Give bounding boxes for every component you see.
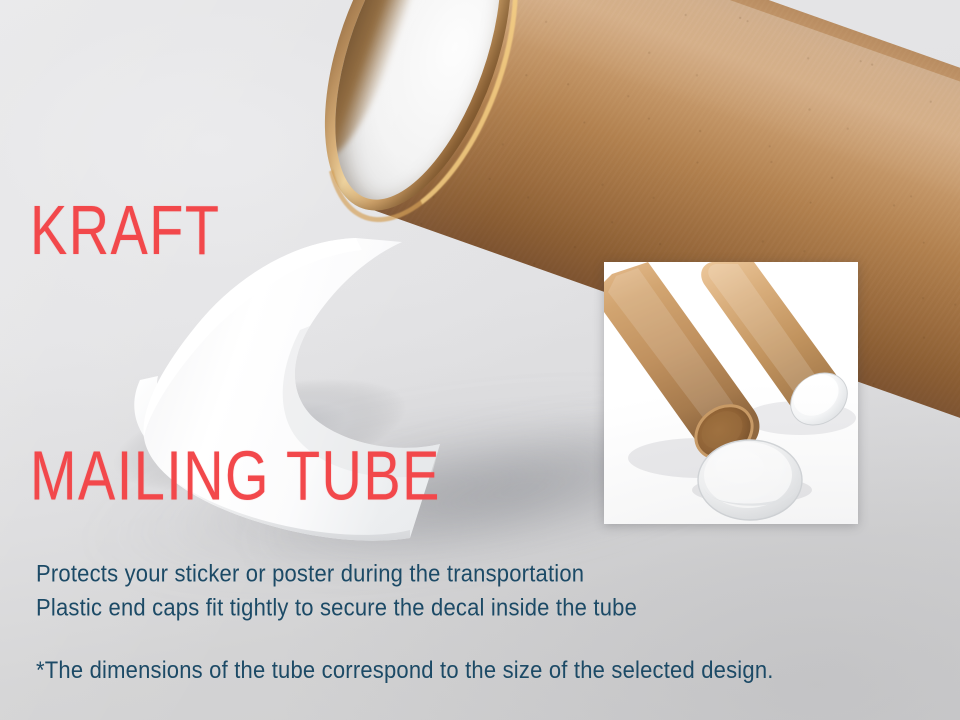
headline-line-2: MAILING TUBE (30, 436, 441, 518)
inset-loose-end-cap (698, 440, 802, 520)
feature-line-2: Plastic end caps fit tightly to secure t… (36, 590, 637, 624)
feature-description: Protects your sticker or poster during t… (36, 556, 637, 624)
feature-line-1: Protects your sticker or poster during t… (36, 556, 637, 590)
tube-highlight (427, 0, 960, 246)
footnote-text: *The dimensions of the tube correspond t… (36, 655, 774, 686)
product-photo-inset (604, 262, 858, 524)
poster-canvas: KRAFT MAILING TUBE Protects your sticker… (0, 0, 960, 720)
headline-line-1: KRAFT (30, 190, 441, 272)
